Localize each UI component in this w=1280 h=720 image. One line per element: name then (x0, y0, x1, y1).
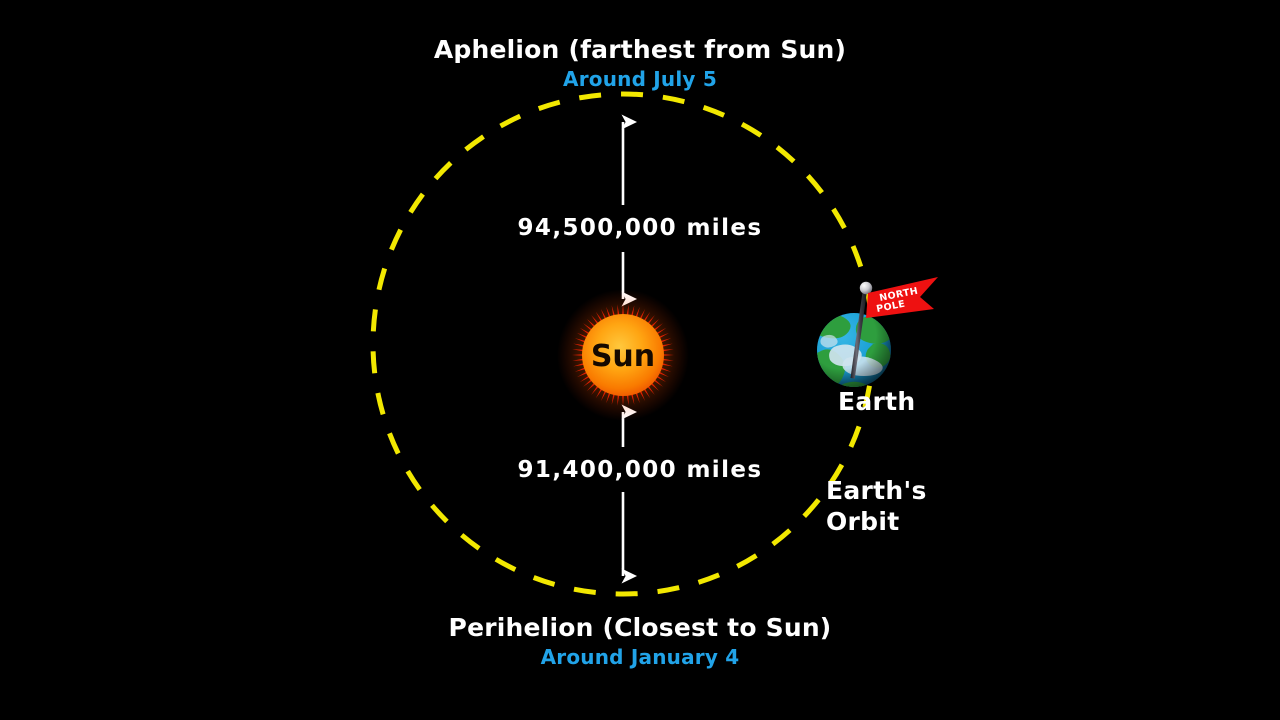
pole-knob (860, 282, 872, 294)
perihelion-title: Perihelion (Closest to Sun) (0, 614, 1280, 642)
earth-label: Earth (838, 388, 916, 416)
orbit-diagram-canvas: Sun NORTH POLE (0, 0, 1280, 720)
earth-orbit-label-line2: Orbit (826, 507, 927, 538)
north-pole-flag: NORTH POLE (866, 277, 938, 318)
perihelion-date: Around January 4 (0, 646, 1280, 668)
aphelion-date: Around July 5 (0, 68, 1280, 90)
perihelion-distance-label: 91,400,000 miles (0, 458, 1280, 483)
perihelion-label-group: Perihelion (Closest to Sun) Around Janua… (0, 614, 1280, 668)
sun-graphic: Sun (557, 289, 689, 421)
earth-orbit-label: Earth's Orbit (826, 476, 927, 537)
diagram-graphics-layer: Sun NORTH POLE (0, 0, 1280, 720)
sun-label: Sun (591, 339, 655, 374)
aphelion-label-group: Aphelion (farthest from Sun) Around July… (0, 36, 1280, 90)
earth-orbit-label-line1: Earth's (826, 476, 927, 507)
aphelion-distance-label: 94,500,000 miles (0, 216, 1280, 241)
aphelion-title: Aphelion (farthest from Sun) (0, 36, 1280, 64)
